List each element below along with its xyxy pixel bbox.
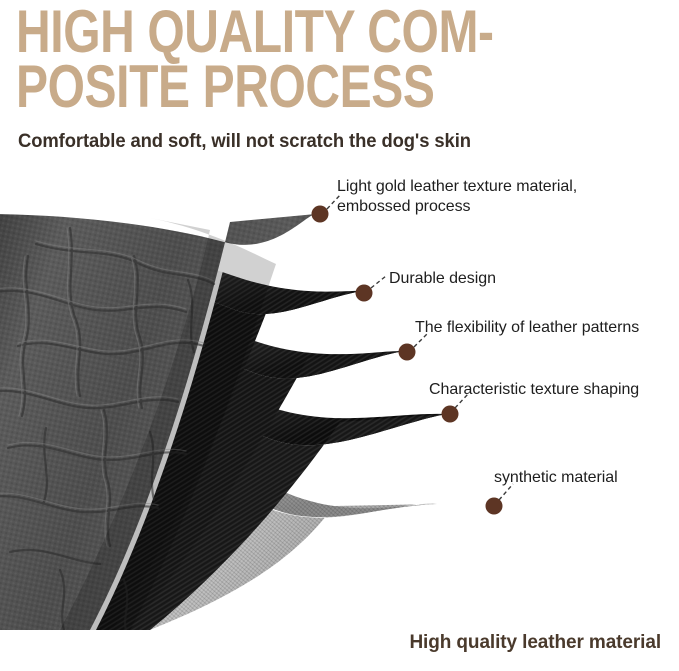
callout-label-leather-flexibility: The flexibility of leather patterns bbox=[415, 318, 639, 338]
callout-leaders bbox=[327, 194, 513, 500]
dot-marker-light-gold-leather[interactable] bbox=[312, 206, 329, 223]
callout-label-light-gold-leather: Light gold leather texture material, emb… bbox=[337, 177, 577, 218]
dot-marker-leather-flexibility[interactable] bbox=[399, 344, 416, 361]
dot-marker-durable-design[interactable] bbox=[356, 285, 373, 302]
callout-label-characteristic-texture: Characteristic texture shaping bbox=[429, 380, 639, 400]
dot-marker-synthetic-material[interactable] bbox=[486, 498, 503, 515]
page-subtitle: Comfortable and soft, will not scratch t… bbox=[18, 131, 471, 153]
dot-marker-characteristic-texture[interactable] bbox=[442, 406, 459, 423]
page-title: HIGH QUALITY COM- POSITE PROCESS bbox=[16, 4, 538, 114]
footer-note: High quality leather material bbox=[409, 632, 661, 654]
product-infographic: HIGH QUALITY COM- POSITE PROCESS Comfort… bbox=[0, 0, 679, 671]
callout-label-synthetic-material: synthetic material bbox=[494, 468, 618, 488]
leader-line-durable-design bbox=[371, 276, 386, 288]
callout-label-durable-design: Durable design bbox=[389, 269, 496, 289]
